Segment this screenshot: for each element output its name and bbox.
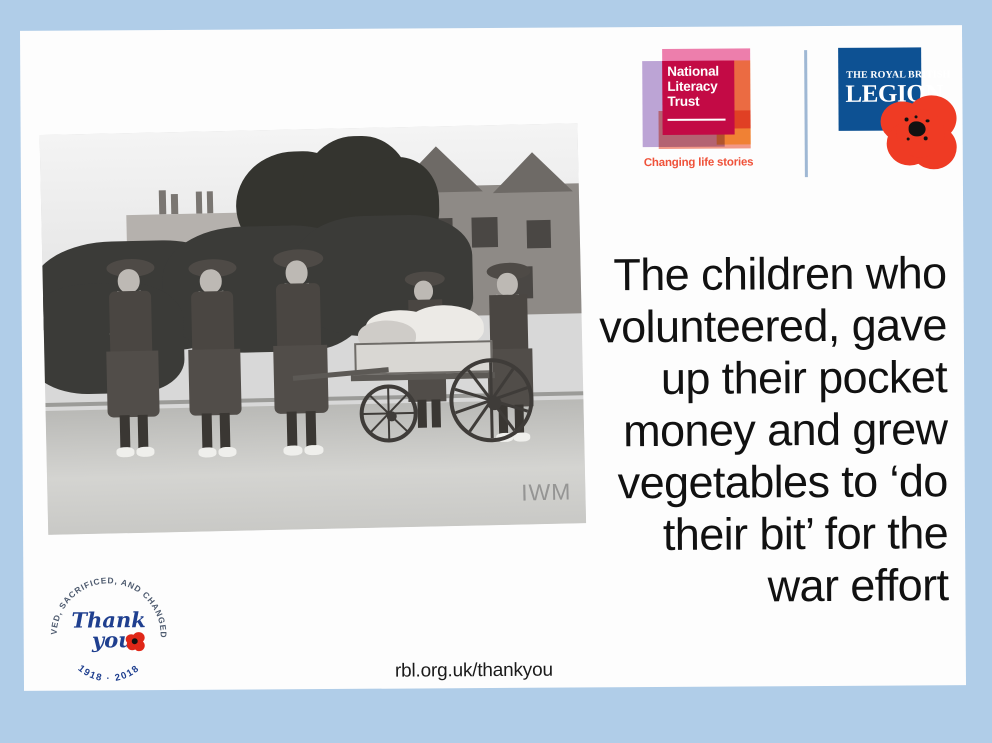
nlt-wordmark: National Literacy Trust xyxy=(667,64,733,109)
badge-poppy-icon xyxy=(126,632,145,651)
nlt-tagline: Changing life stories xyxy=(644,156,754,169)
photo-figure xyxy=(182,258,256,459)
logo-bar: National Literacy Trust Changing life st… xyxy=(620,47,951,214)
photo-figure xyxy=(100,258,174,459)
royal-british-legion-logo[interactable]: THE ROYAL BRITISH LEGION xyxy=(838,47,951,213)
nlt-underline-rule xyxy=(668,119,726,121)
nlt-word-trust: Trust xyxy=(667,94,733,109)
rbl-wordmark-top: THE ROYAL BRITISH xyxy=(846,69,950,81)
poster-card: National Literacy Trust Changing life st… xyxy=(20,25,966,691)
page-title: The children who volunteered, gave up th… xyxy=(581,247,948,613)
footer-url[interactable]: rbl.org.uk/thankyou xyxy=(324,659,624,683)
poppy-center xyxy=(909,121,926,136)
logo-divider xyxy=(804,50,807,177)
photo-figure xyxy=(267,249,342,460)
archive-photograph: IWM xyxy=(40,123,587,535)
nlt-word-national: National xyxy=(667,64,733,79)
nlt-word-literacy: Literacy xyxy=(667,79,733,94)
poppy-icon xyxy=(880,95,956,171)
iwm-watermark: IWM xyxy=(521,479,572,507)
handcart xyxy=(343,299,556,459)
badge-years-label: 1918 · 2018 xyxy=(76,663,143,685)
svg-text:1918 · 2018: 1918 · 2018 xyxy=(76,663,143,685)
national-literacy-trust-logo[interactable]: National Literacy Trust Changing life st… xyxy=(642,48,788,214)
poster-background: National Literacy Trust Changing life st… xyxy=(0,0,992,743)
thank-you-badge: ALL WHO SERVED, SACRIFICED, AND CHANGED … xyxy=(43,570,174,701)
